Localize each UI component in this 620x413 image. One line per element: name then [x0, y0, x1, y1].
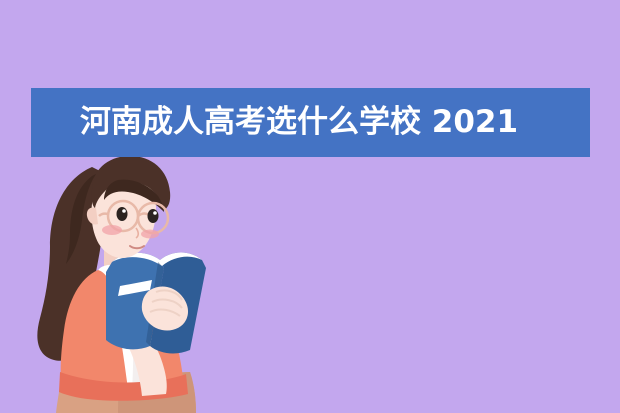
title-banner: 河南成人高考选什么学校 2021 — [31, 88, 590, 157]
right-blush — [141, 230, 159, 239]
poster-canvas: 河南成人高考选什么学校 2021 — [0, 0, 620, 413]
woman-reading-book-illustration — [0, 150, 300, 413]
left-blush — [102, 225, 122, 235]
page-title: 河南成人高考选什么学校 2021 — [80, 88, 518, 157]
left-eye — [117, 207, 128, 221]
right-eye — [148, 209, 159, 223]
left-eye-highlight — [122, 209, 126, 213]
right-eye-highlight — [153, 211, 157, 215]
